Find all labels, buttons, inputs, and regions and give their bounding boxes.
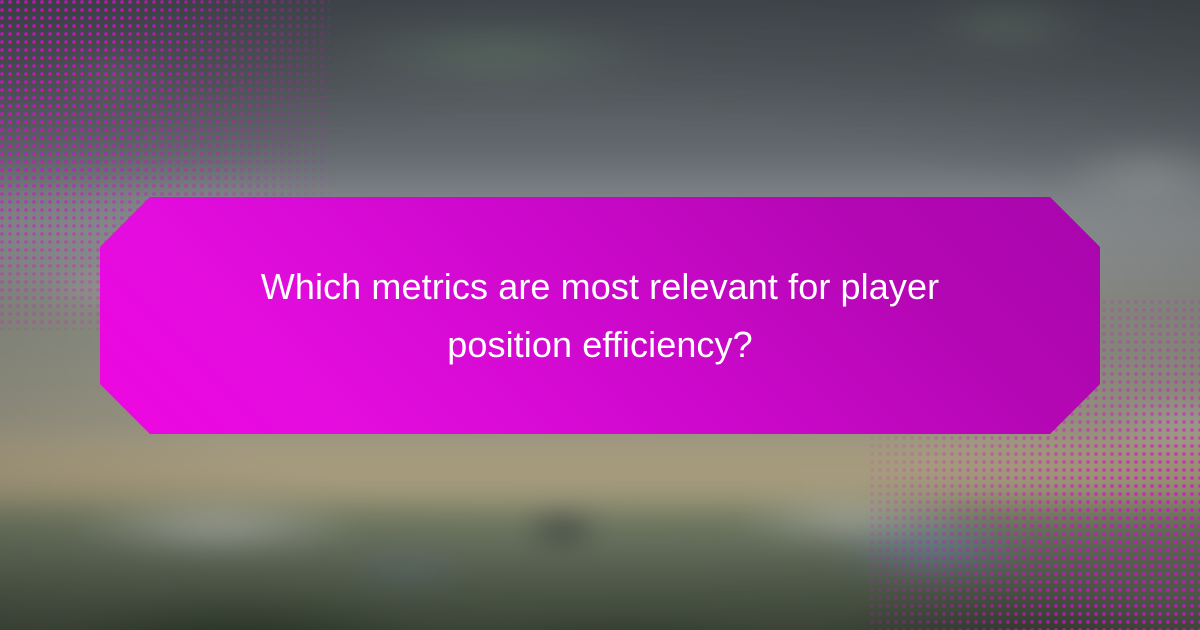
- question-headline: Which metrics are most relevant for play…: [220, 258, 980, 374]
- social-share-card: Which metrics are most relevant for play…: [0, 0, 1200, 630]
- question-banner: Which metrics are most relevant for play…: [100, 197, 1100, 434]
